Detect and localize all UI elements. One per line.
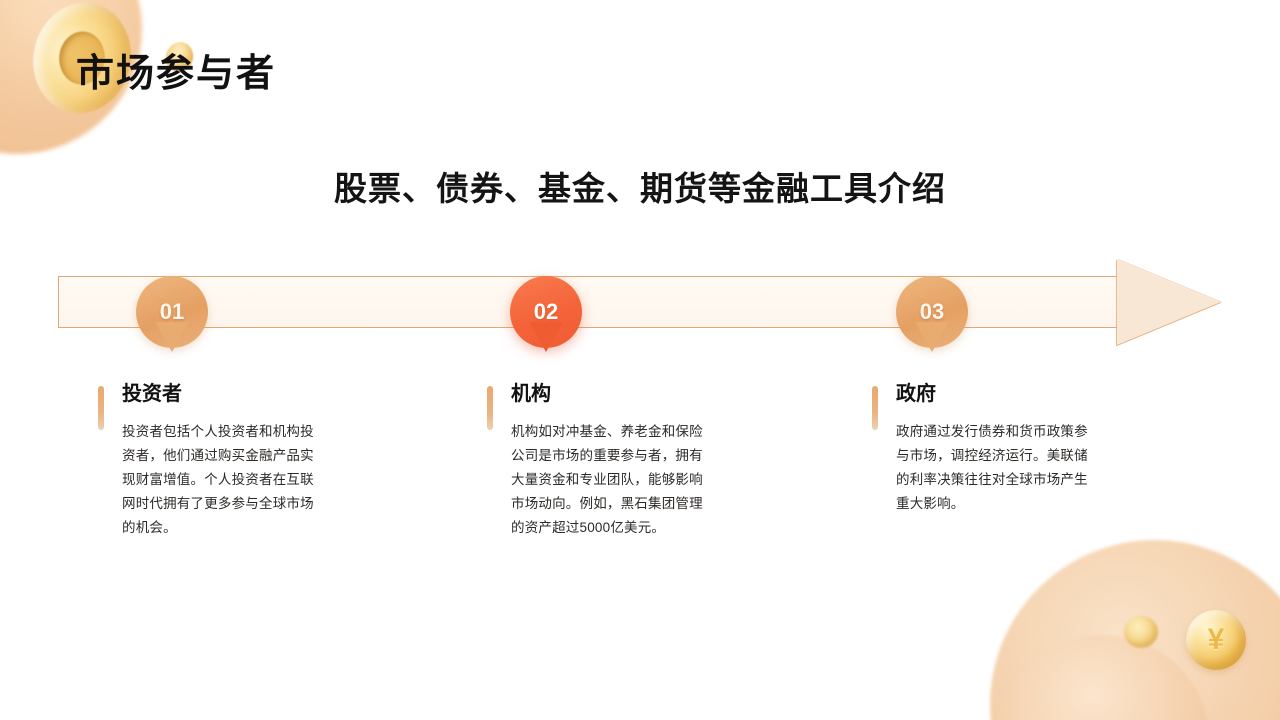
column-accent-bar: [487, 386, 493, 430]
gold-coin-small-bottom-icon: [1124, 616, 1158, 648]
column-title: 政府: [896, 382, 1090, 406]
content-column-institutions: 机构 机构如对冲基金、养老金和保险公司是市场的重要参与者，拥有大量资金和专业团队…: [487, 382, 705, 540]
slide: 市场参与者 股票、债券、基金、期货等金融工具介绍 01 02 03 投资者 投资…: [0, 0, 1280, 720]
column-title: 机构: [511, 382, 705, 406]
column-accent-bar: [98, 386, 104, 430]
background-blob-bottom-right-secondary: [995, 635, 1210, 720]
column-accent-bar: [872, 386, 878, 430]
column-title: 投资者: [122, 382, 316, 406]
page-title: 市场参与者: [76, 54, 276, 96]
column-body: 政府通过发行债券和货币政策参与市场，调控经济运行。美联储的利率决策往往对全球市场…: [896, 420, 1090, 516]
timeline-marker-01[interactable]: 01: [136, 276, 208, 348]
timeline-marker-02[interactable]: 02: [510, 276, 582, 348]
timeline-marker-label: 02: [534, 301, 558, 323]
timeline-arrow: 01 02 03: [58, 276, 1221, 328]
timeline-marker-03[interactable]: 03: [896, 276, 968, 348]
timeline-marker-label: 03: [920, 301, 944, 323]
slide-headline: 股票、债券、基金、期货等金融工具介绍: [0, 162, 1280, 210]
gold-coin-yen-icon: [1186, 610, 1246, 670]
column-body: 投资者包括个人投资者和机构投资者，他们通过购买金融产品实现财富增值。个人投资者在…: [122, 420, 316, 540]
timeline-arrowhead-icon: [1117, 259, 1221, 345]
timeline-marker-label: 01: [160, 301, 184, 323]
content-column-investors: 投资者 投资者包括个人投资者和机构投资者，他们通过购买金融产品实现财富增值。个人…: [98, 382, 316, 540]
column-body: 机构如对冲基金、养老金和保险公司是市场的重要参与者，拥有大量资金和专业团队，能够…: [511, 420, 705, 540]
content-column-government: 政府 政府通过发行债券和货币政策参与市场，调控经济运行。美联储的利率决策往往对全…: [872, 382, 1090, 516]
